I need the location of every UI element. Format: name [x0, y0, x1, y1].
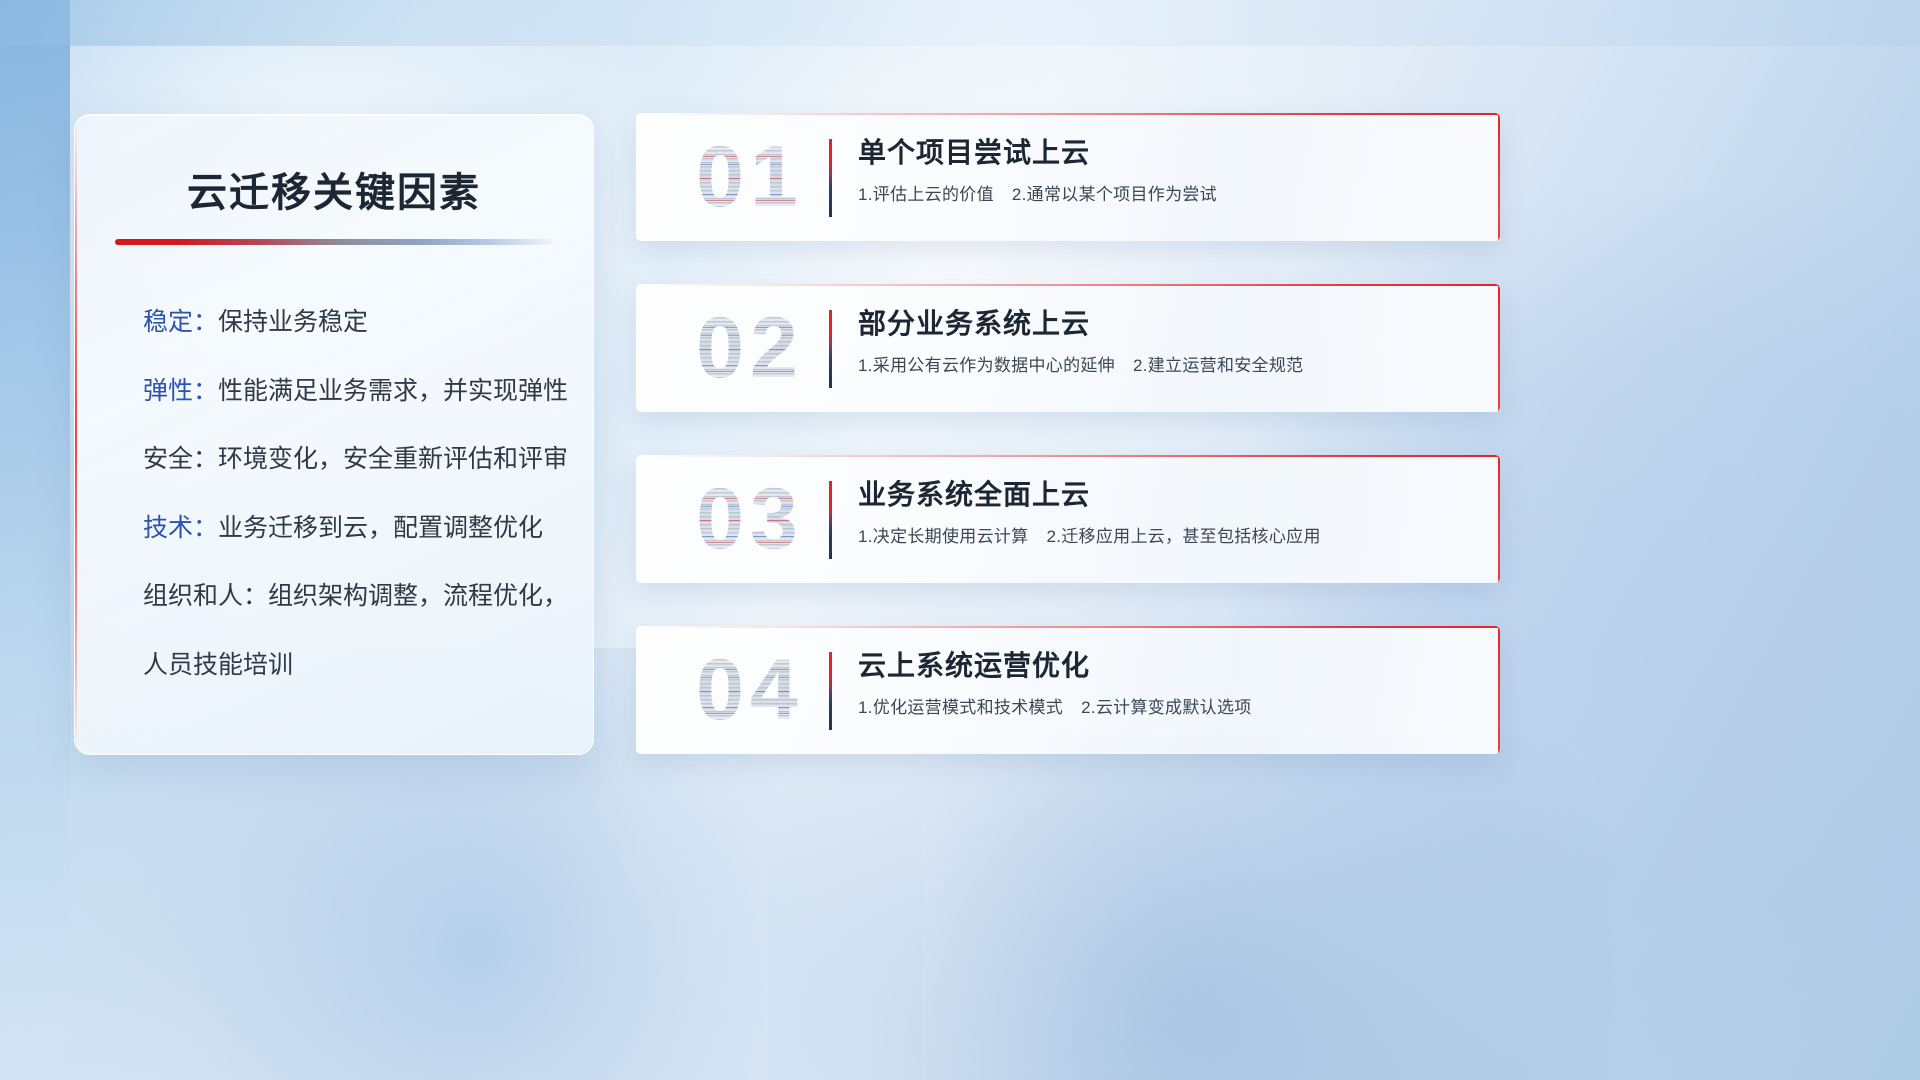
- stage-title: 业务系统全面上云: [858, 477, 1460, 512]
- stage-description-part-1: 1.采用公有云作为数据中心的延伸: [858, 356, 1115, 375]
- list-item-value: 性能满足业务需求，并实现弹性: [218, 377, 568, 405]
- stage-divider-bar: [829, 139, 832, 217]
- list-item: 技术：业务迁移到云，配置调整优化: [143, 513, 559, 544]
- stage-number-blue-overlay: 01: [660, 134, 840, 220]
- stage-number-glitch: 02 02 02: [660, 302, 840, 394]
- list-item: 人员技能培训: [143, 650, 559, 681]
- stage-card[interactable]: 03 03 03 业务系统全面上云 1.决定长期使用云计算2.迁移应用上云，甚至…: [636, 455, 1500, 583]
- stage-description: 1.采用公有云作为数据中心的延伸2.建立运营和安全规范: [858, 355, 1460, 377]
- stage-description-part-1: 1.评估上云的价值: [858, 185, 994, 204]
- title-underline-accent: [115, 239, 553, 245]
- list-item-value: 环境变化，安全重新评估和评审: [218, 445, 568, 473]
- list-item-key: 弹性：: [143, 377, 218, 405]
- stage-description: 1.优化运营模式和技术模式2.云计算变成默认选项: [858, 697, 1460, 719]
- stage-description: 1.评估上云的价值2.通常以某个项目作为尝试: [858, 184, 1460, 206]
- list-item-key: 安全：: [143, 445, 218, 473]
- list-item-key: 技术：: [143, 514, 218, 542]
- list-item: 安全：环境变化，安全重新评估和评审: [143, 444, 559, 475]
- stage-card[interactable]: 02 02 02 部分业务系统上云 1.采用公有云作为数据中心的延伸2.建立运营…: [636, 284, 1500, 412]
- key-factors-panel: 云迁移关键因素 稳定：保持业务稳定 弹性：性能满足业务需求，并实现弹性 安全：环…: [74, 114, 594, 755]
- list-item-value: 业务迁移到云，配置调整优化: [218, 514, 543, 542]
- stage-divider-bar: [829, 652, 832, 730]
- stage-cards-column: 01 01 01 单个项目尝试上云 1.评估上云的价值2.通常以某个项目作为尝试…: [636, 113, 1500, 754]
- stage-number-text: 02: [696, 305, 804, 391]
- stage-title: 部分业务系统上云: [858, 306, 1460, 341]
- stage-number-text: 01: [696, 134, 804, 220]
- list-item-value: 组织架构调整，流程优化，: [268, 582, 568, 610]
- stage-number-blue-overlay: 02: [660, 305, 840, 391]
- list-item: 弹性：性能满足业务需求，并实现弹性: [143, 376, 559, 407]
- stage-title: 单个项目尝试上云: [858, 135, 1460, 170]
- stage-number-glitch: 01 01 01: [660, 131, 840, 223]
- stage-divider-bar: [829, 481, 832, 559]
- stage-number-red-overlay: 01: [660, 134, 840, 220]
- list-item: 组织和人：组织架构调整，流程优化，: [143, 581, 559, 612]
- page-title: 云迁移关键因素: [109, 169, 559, 217]
- background-left-stripe: [0, 0, 70, 1080]
- stage-number-blue-overlay: 03: [660, 476, 840, 562]
- stage-description-part-2: 2.通常以某个项目作为尝试: [1012, 185, 1217, 204]
- stage-number-glitch: 03 03 03: [660, 473, 840, 565]
- stage-description: 1.决定长期使用云计算2.迁移应用上云，甚至包括核心应用: [858, 526, 1460, 548]
- list-item: 稳定：保持业务稳定: [143, 307, 559, 338]
- stage-number-text: 03: [696, 476, 804, 562]
- background-glow-bottom-center: [768, 734, 1613, 1080]
- stage-description-part-2: 2.迁移应用上云，甚至包括核心应用: [1046, 527, 1320, 546]
- stage-number-red-overlay: 04: [660, 647, 840, 733]
- list-item-key: 组织和人：: [143, 582, 268, 610]
- list-item-value: 保持业务稳定: [218, 308, 368, 336]
- list-item-value: 人员技能培训: [143, 651, 293, 679]
- stage-card[interactable]: 04 04 04 云上系统运营优化 1.优化运营模式和技术模式2.云计算变成默认…: [636, 626, 1500, 754]
- background-top-stripe: [0, 0, 1920, 46]
- stage-number-blue-overlay: 04: [660, 647, 840, 733]
- stage-description-part-2: 2.云计算变成默认选项: [1081, 698, 1251, 717]
- stage-description-part-1: 1.决定长期使用云计算: [858, 527, 1028, 546]
- stage-description-part-1: 1.优化运营模式和技术模式: [858, 698, 1063, 717]
- stage-number-text: 04: [696, 647, 804, 733]
- stage-description-part-2: 2.建立运营和安全规范: [1133, 356, 1303, 375]
- stage-title: 云上系统运营优化: [858, 648, 1460, 683]
- list-item-key: 稳定：: [143, 308, 218, 336]
- stage-number-red-overlay: 03: [660, 476, 840, 562]
- stage-number-red-overlay: 02: [660, 305, 840, 391]
- stage-number-glitch: 04 04 04: [660, 644, 840, 736]
- stage-divider-bar: [829, 310, 832, 388]
- key-factors-list: 稳定：保持业务稳定 弹性：性能满足业务需求，并实现弹性 安全：环境变化，安全重新…: [109, 307, 559, 680]
- stage-card[interactable]: 01 01 01 单个项目尝试上云 1.评估上云的价值2.通常以某个项目作为尝试: [636, 113, 1500, 241]
